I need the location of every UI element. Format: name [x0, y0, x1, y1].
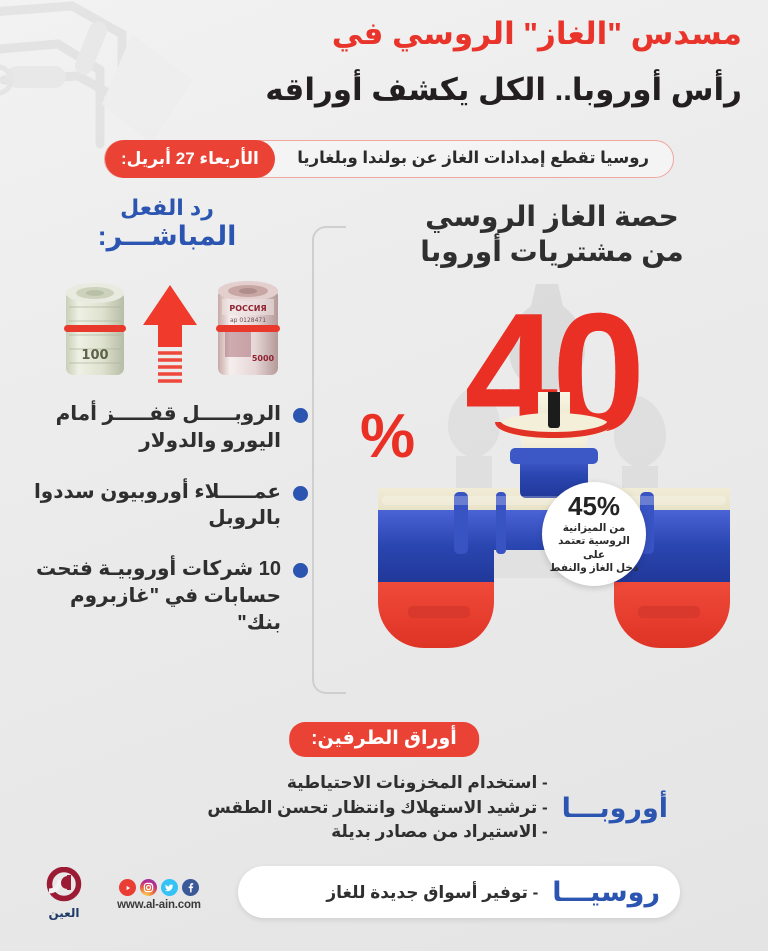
both-sides-heading: أوراق الطرفين: [289, 722, 479, 757]
page-title-line-2: رأس أوروبا.. الكل يكشف أوراقه [265, 74, 742, 105]
date-badge: الأربعاء 27 أبريل: [105, 140, 275, 178]
reaction-bullet-list: الروبـــــل قفـــــز أمام اليورو والدولا… [30, 401, 310, 637]
svg-text:5000: 5000 [252, 354, 275, 363]
social-and-site: www.al-ain.com [92, 879, 232, 911]
page-title-line-1: مسدس "الغاز" الروسي في [332, 18, 742, 49]
reaction-heading-line-1: رد الفعل [30, 196, 304, 220]
svg-text:ар 0128471: ар 0128471 [230, 317, 266, 324]
share-heading: حصة الغاز الروسي من مشتريات أوروبا [346, 196, 758, 269]
dollar-roll-icon: 100 [61, 277, 129, 381]
list-item: الروبـــــل قفـــــز أمام اليورو والدولا… [30, 401, 308, 455]
bullet-text: عمـــــلاء أوروبيون سددوا بالروبل [30, 479, 281, 533]
badge-caption-line-1: من الميزانية [548, 522, 640, 535]
europe-point-3: - الاستيراد من مصادر بديلة [156, 820, 548, 845]
badge-caption: من الميزانية الروسية تعتمد على دخل الغاز… [542, 522, 646, 575]
currency-illustration: 100 РОССИЯ [55, 265, 285, 385]
svg-text:100: 100 [81, 348, 108, 363]
reaction-heading: رد الفعل المباشـــر: [30, 196, 310, 251]
budget-share-badge: 45% من الميزانية الروسية تعتمد على دخل ا… [542, 482, 646, 586]
russia-side-row: روسيـــا - توفير أسواق جديدة للغاز [238, 866, 680, 918]
date-headline-text: روسيا تقطع إمدادات الغاز عن بولندا وبلغا… [273, 148, 673, 170]
europe-points: - استخدام المخزونات الاحتياطية - ترشيد ا… [150, 771, 548, 845]
al-ain-logo[interactable]: العين [36, 867, 92, 923]
russia-points: - توفير أسواق جديدة للغاز [246, 884, 538, 901]
bullet-text: 10 شركات أوروبيـة فتحت حسابات في "غازبرو… [30, 556, 281, 636]
header: مسدس "الغاز" الروسي في رأس أوروبا.. الكل… [0, 0, 768, 128]
badge-caption-line-2: الروسية تعتمد على [548, 535, 640, 561]
bullet-dot-icon [293, 486, 308, 501]
europe-point-1: - استخدام المخزونات الاحتياطية [156, 771, 548, 796]
reaction-section: رد الفعل المباشـــر: 100 [30, 196, 310, 716]
europe-point-2: - ترشيد الاستهلاك وانتظار تحسن الطقس [156, 796, 548, 821]
russia-label: روسيـــا [538, 877, 672, 908]
twitter-icon[interactable] [161, 879, 178, 896]
gas-share-section: حصة الغاز الروسي من مشتريات أوروبا 40 % [346, 196, 758, 716]
reaction-heading-line-2: المباشـــر: [30, 222, 304, 251]
svg-text:العين: العين [48, 906, 79, 920]
section-divider [312, 226, 346, 694]
facebook-icon[interactable] [182, 879, 199, 896]
ruble-roll-icon: РОССИЯ ар 0128471 5000 [213, 275, 283, 381]
europe-side-row: أوروبـــا - استخدام المخزونات الاحتياطية… [150, 760, 680, 856]
badge-value: 45% [568, 493, 620, 519]
al-ain-logo-mark-icon [43, 867, 85, 905]
list-item: 10 شركات أوروبيـة فتحت حسابات في "غازبرو… [30, 556, 308, 636]
bullet-dot-icon [293, 408, 308, 423]
list-item: عمـــــلاء أوروبيون سددوا بالروبل [30, 479, 308, 533]
bullet-text: الروبـــــل قفـــــز أمام اليورو والدولا… [30, 401, 281, 455]
al-ain-brand-wordmark-icon: العين [42, 905, 86, 921]
youtube-icon[interactable] [119, 879, 136, 896]
social-icons [119, 879, 199, 896]
date-headline-strip: روسيا تقطع إمدادات الغاز عن بولندا وبلغا… [104, 140, 674, 178]
svg-text:РОССИЯ: РОССИЯ [229, 304, 266, 313]
up-arrow-icon [141, 281, 199, 385]
share-heading-line-2: من مشتريات أوروبا [346, 235, 758, 270]
footer-brand: العين www.al-ain.com [36, 866, 232, 924]
badge-caption-line-3: دخل الغاز والنفط [548, 562, 640, 575]
site-url[interactable]: www.al-ain.com [117, 899, 201, 911]
russia-point-1: - توفير أسواق جديدة للغاز [252, 884, 538, 901]
share-heading-line-1: حصة الغاز الروسي [346, 200, 758, 235]
bullet-dot-icon [293, 563, 308, 578]
europe-label: أوروبـــا [548, 793, 680, 824]
instagram-icon[interactable] [140, 879, 157, 896]
